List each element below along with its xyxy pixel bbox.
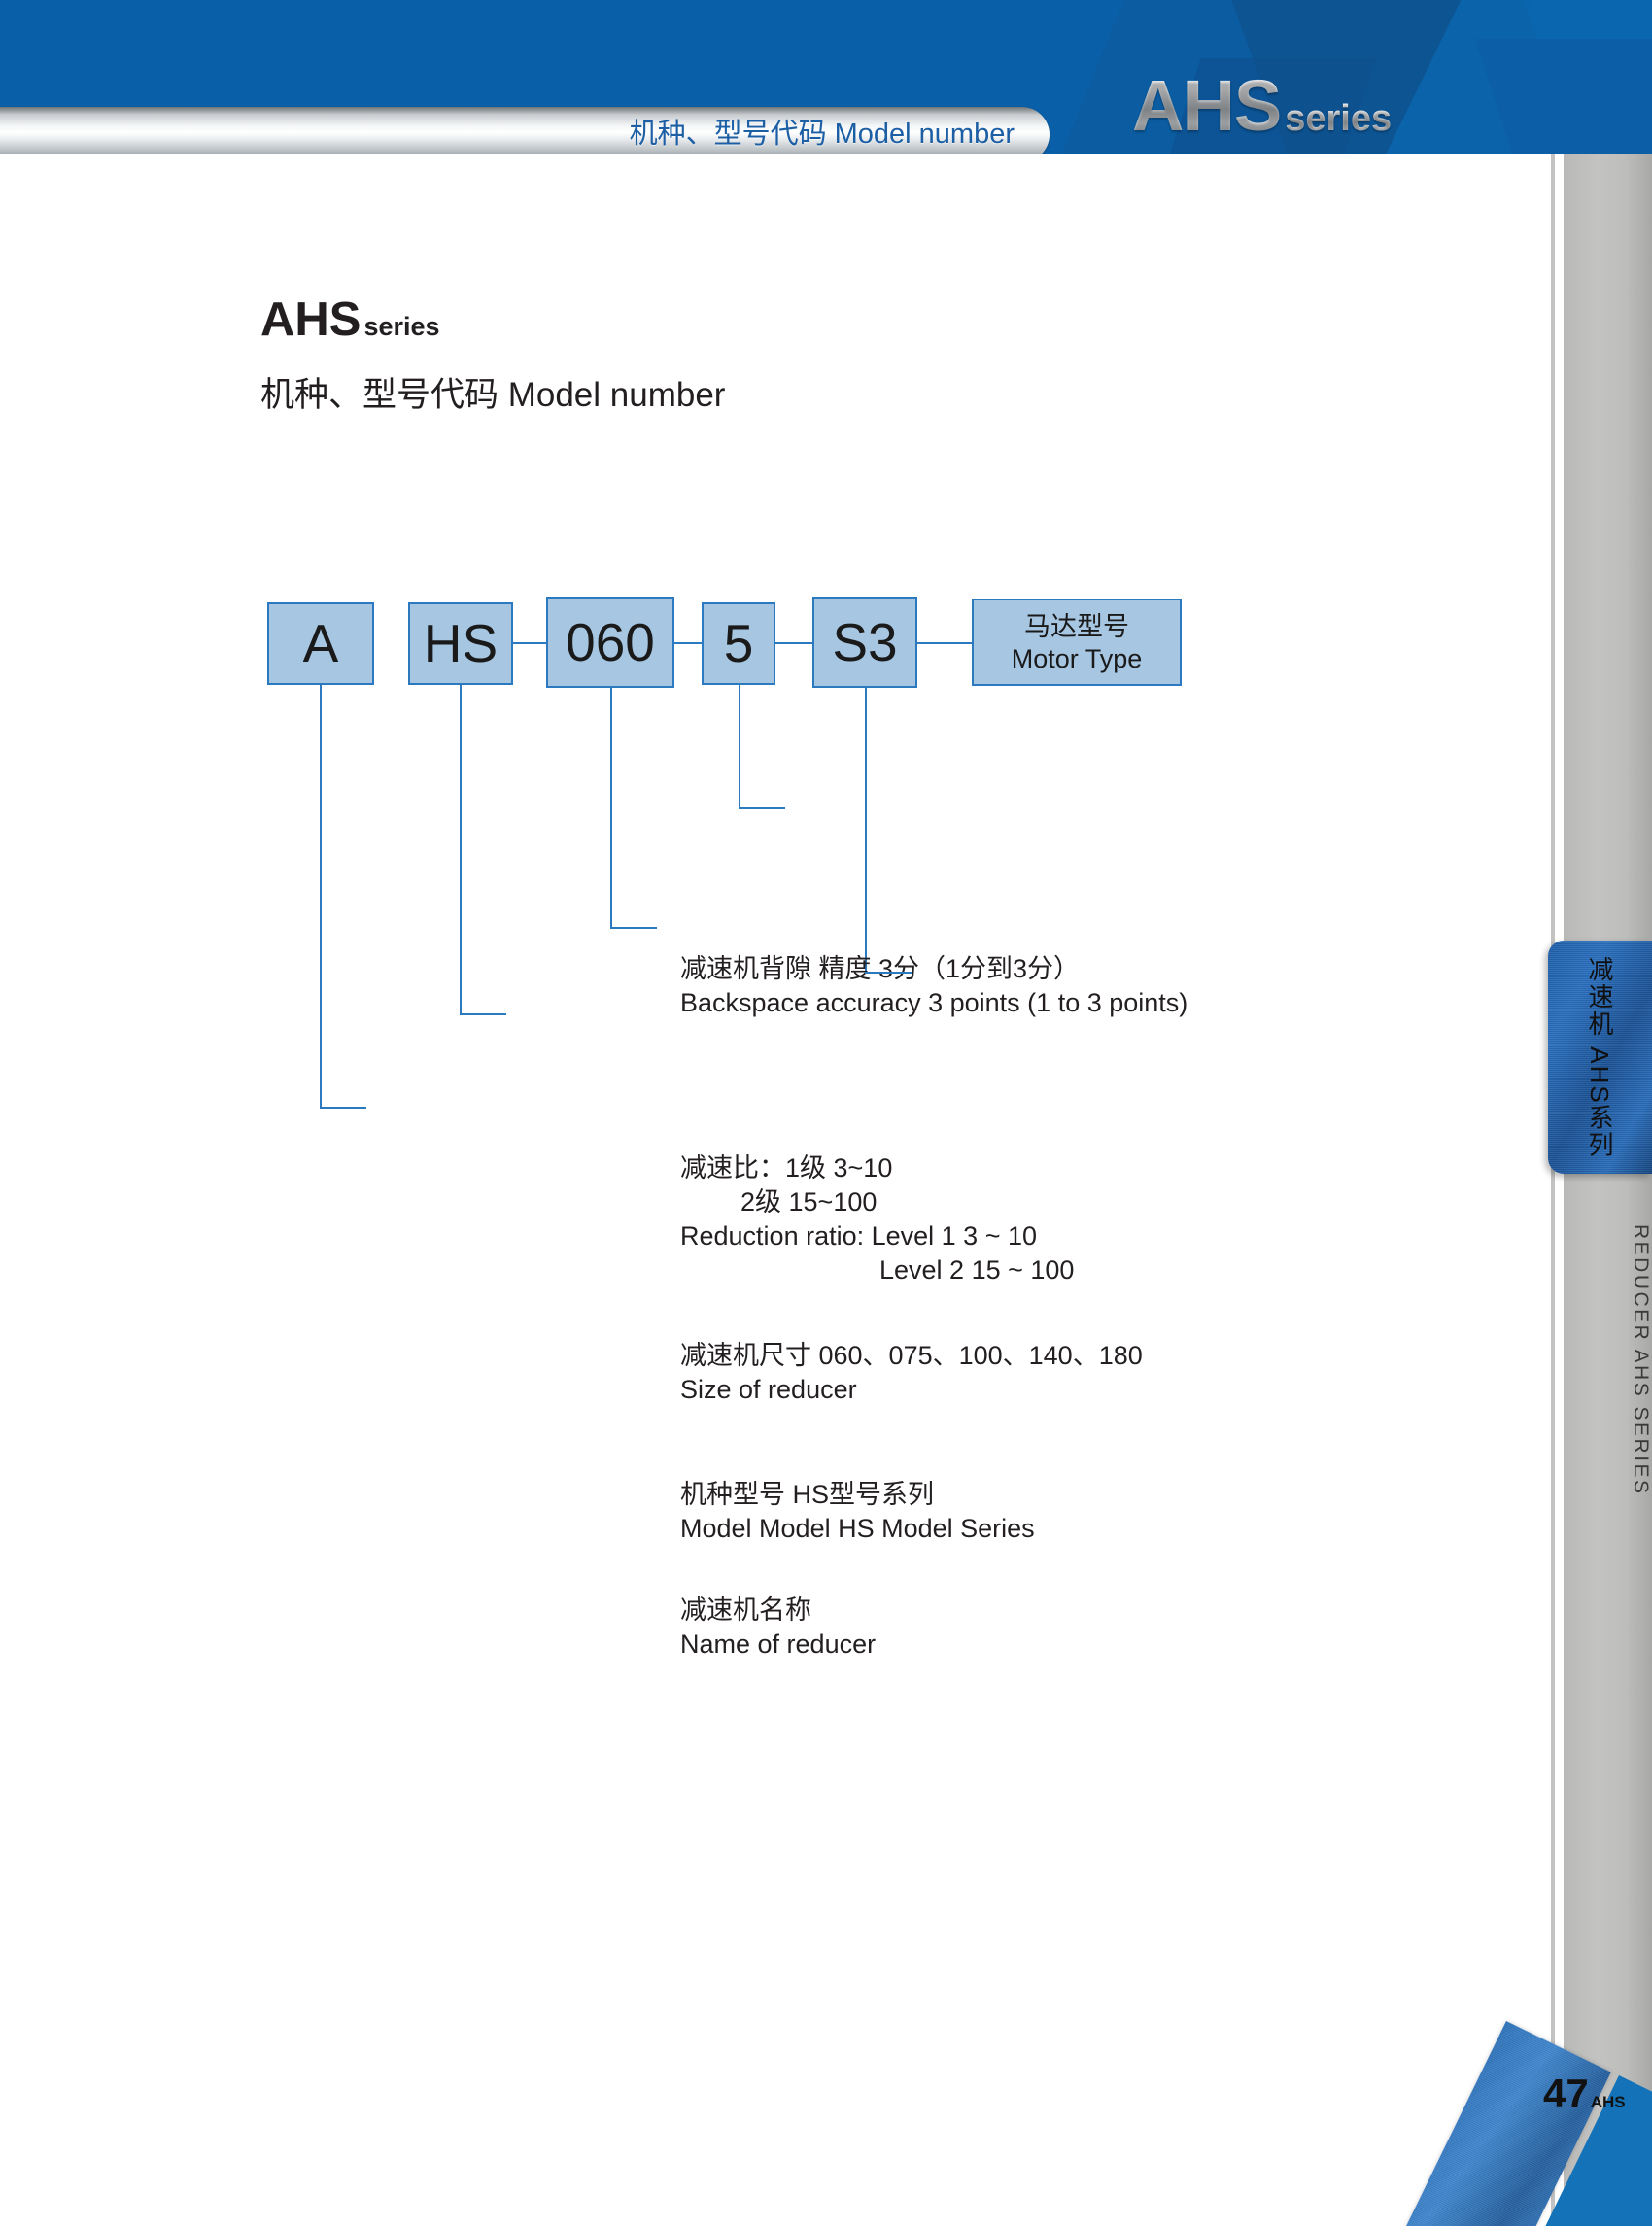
annotation-ratio-en-1: Reduction ratio: Level 1 3 ~ 10	[680, 1219, 1074, 1253]
header-logo-sub: series	[1285, 98, 1392, 139]
annotation-backspace-en: Backspace accuracy 3 points (1 to 3 poin…	[680, 986, 1187, 1020]
right-edge-hairline	[1551, 154, 1555, 2226]
code-box-5: 5	[702, 602, 775, 685]
leader-line-ratio-horizontal	[739, 807, 785, 809]
leader-line-ratio-vertical	[739, 685, 740, 809]
page-number: 47	[1543, 2071, 1589, 2116]
code-box-a: A	[267, 602, 374, 685]
annotation-ratio-cn-1: 减速比：1级 3~10	[680, 1151, 1074, 1185]
side-tab-sublabel: REDUCER AHS SERIES	[1566, 1200, 1652, 1521]
annotation-ratio-cn-2: 2级 15~100	[680, 1185, 1074, 1219]
annotation-model-cn: 机种型号 HS型号系列	[680, 1478, 1035, 1512]
leader-line-name-horizontal	[320, 1107, 366, 1109]
annotation-backspace-cn: 减速机背隙 精度 3分（1分到3分）	[680, 952, 1187, 986]
page-subtitle: 机种、型号代码 Model number	[260, 367, 725, 417]
annotation-size: 减速机尺寸 060、075、100、140、180 Size of reduce…	[680, 1339, 1143, 1407]
leader-line-name-vertical	[320, 685, 322, 1109]
header-decor-shape-4	[1475, 39, 1652, 154]
connector-060-5	[674, 642, 702, 644]
leader-line-model-horizontal	[460, 1013, 506, 1015]
page-title-main: AHS	[260, 293, 361, 346]
header-title-pill: 机种、型号代码 Model number	[0, 107, 1050, 154]
code-box-hs: HS	[408, 602, 513, 685]
page-header-banner: 机种、型号代码 Model number AHSseries	[0, 0, 1652, 154]
motor-type-en: Motor Type	[1012, 643, 1143, 675]
code-box-060: 060	[546, 597, 674, 688]
motor-type-cn: 马达型号	[1024, 611, 1129, 643]
connector-hs-060	[513, 642, 546, 644]
page-title-series: series	[363, 312, 439, 341]
leader-line-backspace-stub	[865, 688, 867, 974]
side-tab-label: 减速机 AHS系列	[1548, 941, 1652, 1174]
annotation-model: 机种型号 HS型号系列 Model Model HS Model Series	[680, 1478, 1035, 1546]
connector-5-s3	[775, 642, 812, 644]
connector-s3-motor	[917, 642, 972, 644]
annotation-name: 减速机名称 Name of reducer	[680, 1593, 876, 1661]
header-pill-label: 机种、型号代码 Model number	[630, 107, 1015, 154]
annotation-model-en: Model Model HS Model Series	[680, 1512, 1035, 1546]
annotation-ratio-en-2: Level 2 15 ~ 100	[680, 1253, 1074, 1287]
annotation-backspace: 减速机背隙 精度 3分（1分到3分） Backspace accuracy 3 …	[680, 952, 1187, 1020]
code-box-s3: S3	[812, 597, 917, 688]
page-title-main-row: AHSseries	[260, 296, 725, 344]
page-number-label: AHS	[1591, 2093, 1626, 2111]
annotation-size-cn: 减速机尺寸 060、075、100、140、180	[680, 1339, 1143, 1373]
page-title: AHSseries 机种、型号代码 Model number	[260, 296, 725, 417]
header-logo-main: AHS	[1132, 65, 1281, 146]
side-tab-reducer-ahs[interactable]: 减速机 AHS系列	[1548, 941, 1652, 1174]
annotation-name-cn: 减速机名称	[680, 1593, 876, 1627]
header-logo: AHSseries	[1132, 70, 1392, 142]
footer-page-corner: 47AHS	[1390, 1992, 1652, 2226]
annotation-ratio: 减速比：1级 3~10 2级 15~100 Reduction ratio: L…	[680, 1151, 1074, 1287]
leader-line-size-vertical	[610, 688, 612, 929]
leader-line-backspace-horizontal	[865, 972, 912, 974]
annotation-size-en: Size of reducer	[680, 1373, 1143, 1407]
leader-line-model-vertical	[460, 685, 462, 1015]
code-box-motor-type: 马达型号 Motor Type	[972, 599, 1182, 686]
right-edge-panel	[1564, 154, 1652, 2226]
page-number-block: 47AHS	[1543, 2073, 1626, 2114]
leader-line-size-horizontal	[610, 927, 657, 929]
annotation-name-en: Name of reducer	[680, 1627, 876, 1661]
